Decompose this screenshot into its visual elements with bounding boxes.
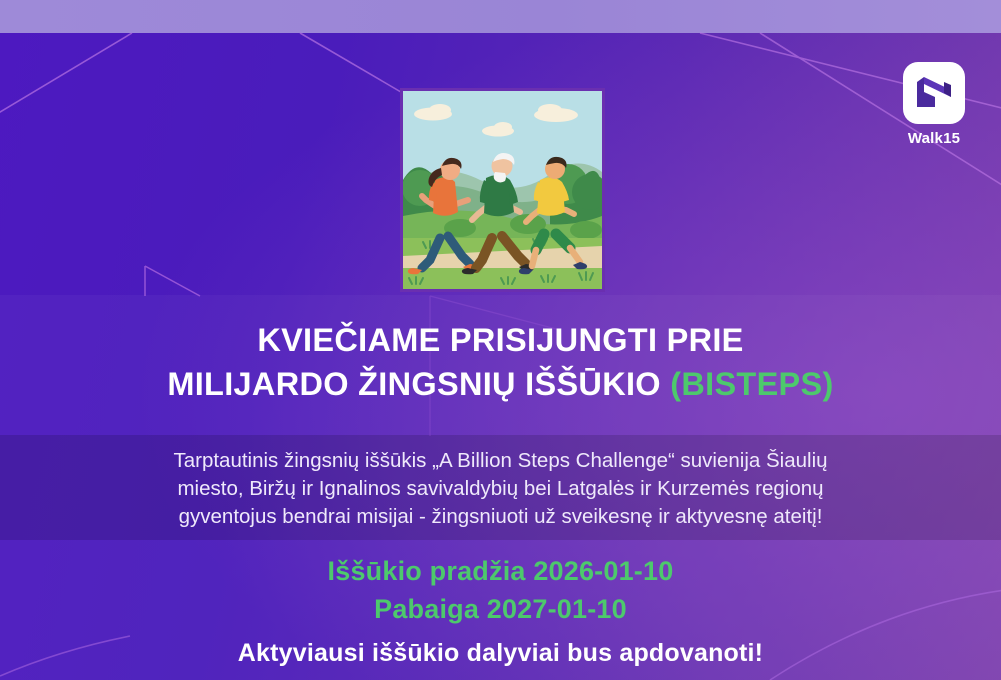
walk15-glyph-icon bbox=[913, 73, 955, 113]
footer-details: Iššūkio pradžia 2026-01-10 Pabaiga 2027-… bbox=[0, 552, 1001, 672]
headline-line-2: MILIJARDO ŽINGSNIŲ IŠŠŪKIO (BISTEPS) bbox=[0, 362, 1001, 406]
headline-accent-bisteps: (BISTEPS) bbox=[670, 366, 833, 402]
poster-canvas: Walk15 KVIEČIAME PRISIJUNGTI PRIE MILIJA… bbox=[0, 0, 1001, 680]
paragraph-line-1: Tarptautinis žingsnių iššūkis „A Billion… bbox=[0, 447, 1001, 475]
page-title: KVIEČIAME PRISIJUNGTI PRIE MILIJARDO ŽIN… bbox=[0, 318, 1001, 406]
walking-illustration bbox=[400, 88, 605, 292]
top-accent-bar bbox=[0, 0, 1001, 33]
paragraph-line-3: gyventojus bendrai misijai - žingsniuoti… bbox=[0, 503, 1001, 531]
headline-line-1: KVIEČIAME PRISIJUNGTI PRIE bbox=[0, 318, 1001, 362]
paragraph-line-2: miesto, Biržų ir Ignalinos savivaldybių … bbox=[0, 475, 1001, 503]
challenge-start-date: Iššūkio pradžia 2026-01-10 bbox=[0, 552, 1001, 590]
walk15-wordmark: Walk15 bbox=[908, 131, 960, 146]
description-paragraph: Tarptautinis žingsnių iššūkis „A Billion… bbox=[0, 447, 1001, 531]
walk15-logo: Walk15 bbox=[903, 62, 965, 146]
walkers-scene-svg bbox=[400, 88, 605, 292]
challenge-end-date: Pabaiga 2027-01-10 bbox=[0, 590, 1001, 628]
award-note: Aktyviausi iššūkio dalyviai bus apdovano… bbox=[0, 634, 1001, 672]
walk15-logo-tile bbox=[903, 62, 965, 124]
headline-line-2-main: MILIJARDO ŽINGSNIŲ IŠŠŪKIO bbox=[167, 366, 670, 402]
